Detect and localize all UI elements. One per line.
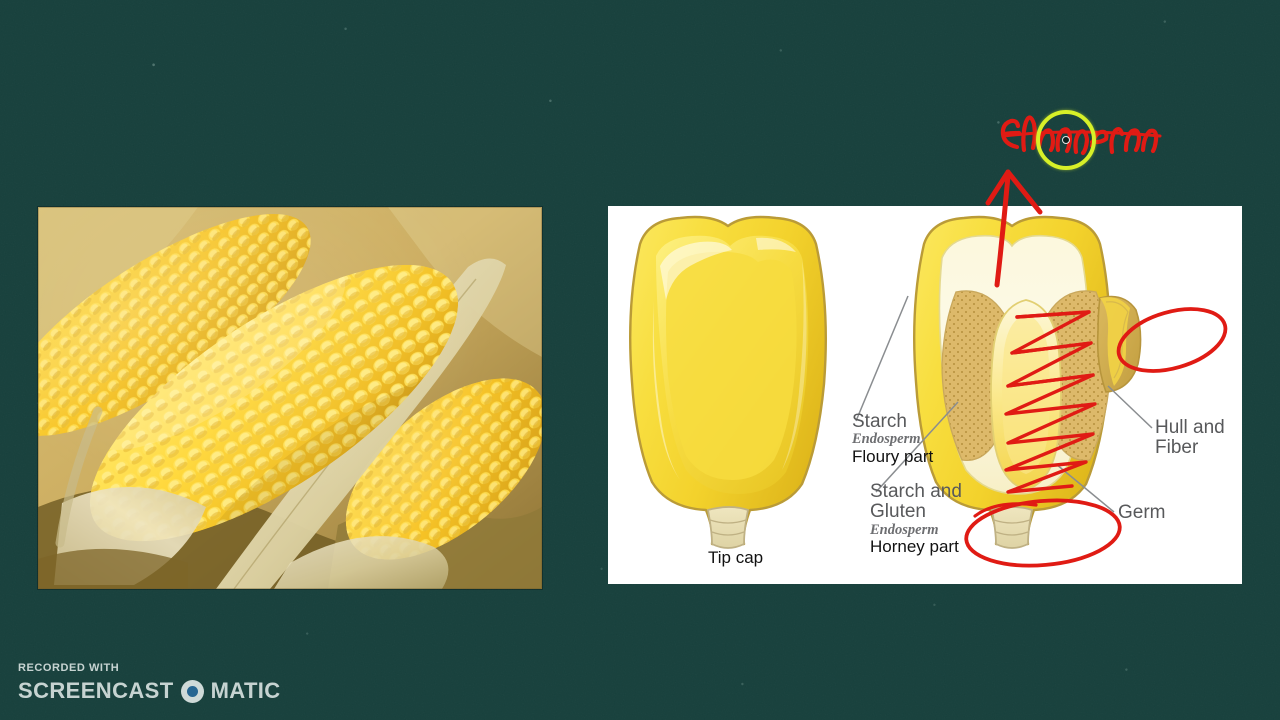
watermark-recorded-with: RECORDED WITH	[18, 662, 281, 674]
watermark-brand-left: SCREENCAST	[18, 678, 174, 704]
watermark-brand-right: MATIC	[211, 678, 281, 704]
corn-photo	[38, 207, 542, 589]
screencast-o-matic-watermark: RECORDED WITH SCREENCAST MATIC	[18, 662, 281, 704]
orb-inner-dot	[187, 686, 198, 697]
kernel-diagram-svg	[608, 206, 1242, 584]
corn-kernel-diagram-panel: Starch Endosperm Floury part Starch and …	[608, 206, 1242, 584]
mouse-cursor-dot	[1062, 136, 1070, 144]
screencast-o-matic-orb-icon	[181, 680, 204, 703]
watermark-brand: SCREENCAST MATIC	[18, 678, 281, 704]
screencast-slide: Starch Endosperm Floury part Starch and …	[0, 0, 1280, 720]
